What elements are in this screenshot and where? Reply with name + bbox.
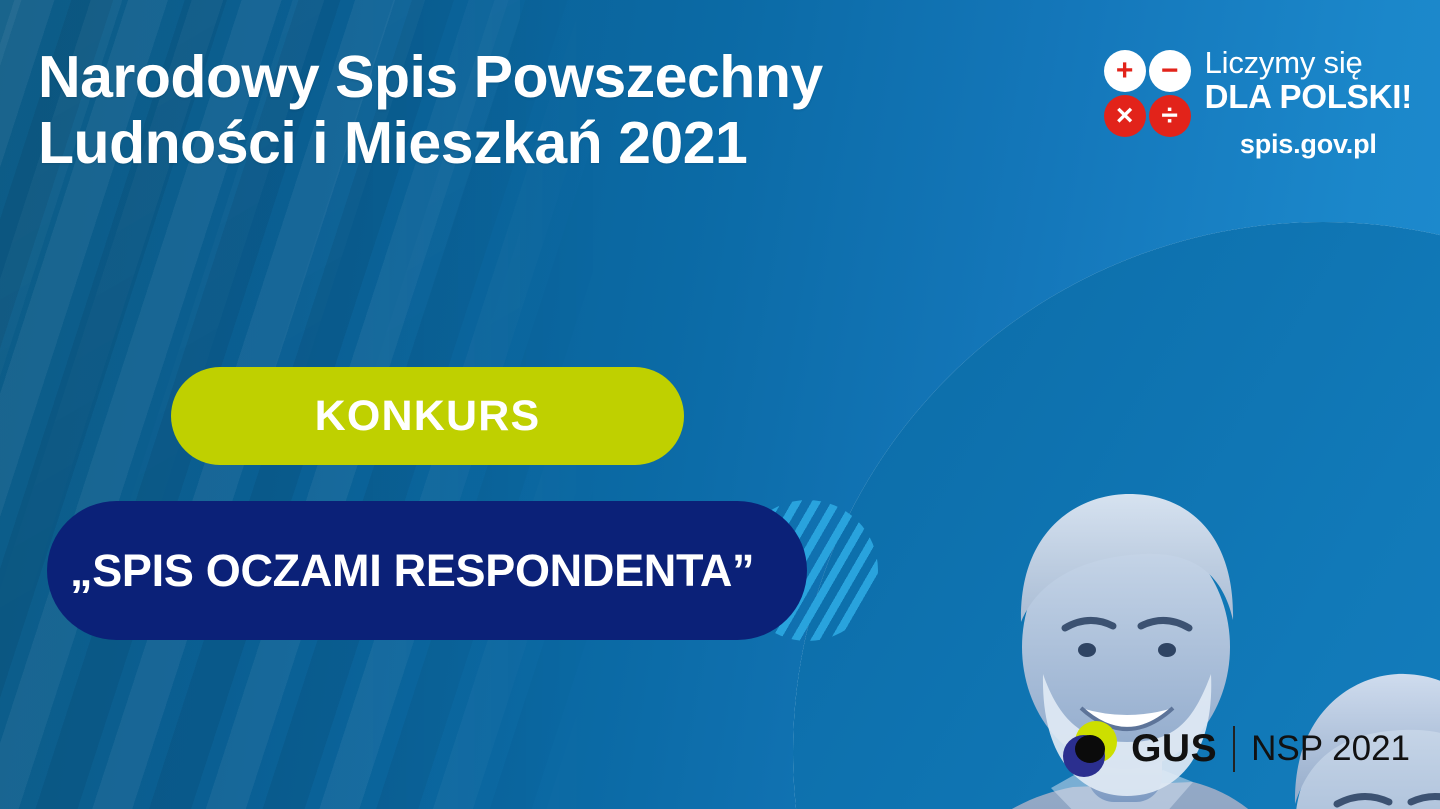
gus-circles-icon	[1063, 721, 1117, 777]
divide-icon: ÷	[1149, 95, 1191, 137]
census-tagline: Liczymy się DLA POLSKI! spis.gov.pl	[1205, 46, 1412, 160]
operator-icons: + − × ÷	[1104, 50, 1191, 137]
contest-title-banner[interactable]: „SPIS OCZAMI RESPONDENTA”	[47, 501, 807, 640]
page-title: Narodowy Spis Powszechny Ludności i Mies…	[38, 44, 998, 176]
gus-divider	[1233, 726, 1235, 772]
contest-badge[interactable]: KONKURS	[171, 367, 684, 465]
gus-footer-logo: GUS NSP 2021	[1063, 721, 1410, 777]
multiply-icon: ×	[1104, 95, 1146, 137]
contest-title-label: „SPIS OCZAMI RESPONDENTA”	[70, 545, 754, 597]
title-line-1: Narodowy Spis Powszechny	[38, 44, 998, 110]
minus-icon: −	[1149, 50, 1191, 92]
census-website[interactable]: spis.gov.pl	[1205, 129, 1412, 160]
plus-icon: +	[1104, 50, 1146, 92]
nsp-campaign-label: NSP 2021	[1251, 729, 1410, 769]
title-line-2: Ludności i Mieszkań 2021	[38, 110, 998, 176]
census-logo: + − × ÷ Liczymy się DLA POLSKI! spis.gov…	[1104, 46, 1412, 160]
gus-overlap-shape	[1075, 735, 1105, 763]
nsp-2021-banner: Narodowy Spis Powszechny Ludności i Mies…	[0, 0, 1440, 809]
contest-badge-label: KONKURS	[315, 392, 541, 441]
tagline-line-1: Liczymy się	[1205, 46, 1412, 79]
gus-wordmark: GUS	[1131, 727, 1217, 771]
tagline-line-2: DLA POLSKI!	[1205, 79, 1412, 115]
